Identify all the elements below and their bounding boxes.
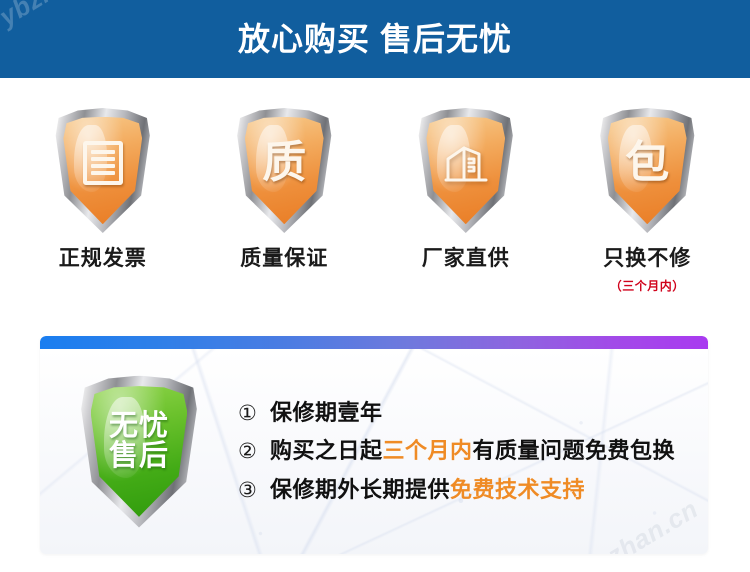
doc-line: [91, 171, 115, 175]
promo-banner: ybzhan.cn 放心购买 售后无忧 正规发票: [0, 0, 750, 572]
doc-line: [91, 157, 115, 161]
quality-character-icon: 质: [236, 108, 332, 233]
warranty-terms-list: ① 保修期壹年 ② 购买之日起三个月内有质量问题免费包换 ③ 保修期外长期提供免…: [238, 399, 708, 504]
header-bar: ybzhan.cn 放心购买 售后无忧: [0, 0, 750, 78]
building-outline-icon: [443, 140, 489, 186]
shield-glyph-invoice: [55, 108, 151, 233]
panel-gradient-bar: [40, 336, 708, 349]
feature-label: 只换不修: [603, 247, 691, 270]
warranty-panel: ybzhan.cn 无忧 售后 ① 保修: [40, 336, 708, 554]
worry-free-service-shield-icon: 无忧 售后: [80, 376, 198, 528]
list-item: ③ 保修期外长期提供免费技术支持: [238, 476, 690, 504]
term-number: ①: [238, 401, 270, 427]
doc-line: [91, 150, 115, 154]
term-segment-highlight: 免费技术支持: [450, 477, 585, 502]
feature-label: 正规发票: [59, 247, 147, 270]
term-number: ③: [238, 478, 270, 504]
shield-glyph-factory: [418, 108, 514, 233]
term-segment: 保修期外长期提供: [270, 477, 450, 502]
term-text: 保修期外长期提供免费技术支持: [270, 476, 585, 504]
term-text: 保修期壹年: [270, 399, 383, 427]
term-number: ②: [238, 439, 270, 465]
term-segment: 购买之日起: [270, 438, 383, 463]
shield-glyph-package: 包: [599, 108, 695, 233]
panel-body: 无忧 售后 ① 保修期壹年 ② 购买之日起三个月内有质量问题免费包换: [40, 349, 708, 554]
term-segment: 有质量问题免费包换: [473, 438, 676, 463]
shield-text-line2: 售后: [109, 442, 169, 472]
term-text: 购买之日起三个月内有质量问题免费包换: [270, 437, 675, 465]
feature-item-factory: 厂家直供: [380, 78, 552, 270]
panel-shield-wrap: 无忧 售后: [40, 376, 238, 528]
list-item: ② 购买之日起三个月内有质量问题免费包换: [238, 437, 690, 465]
factory-building-icon: [418, 108, 514, 233]
feature-label: 质量保证: [240, 247, 328, 270]
feature-shield-row: 正规发票 质 质量保证: [0, 78, 750, 318]
shield-glyph-quality: 质: [236, 108, 332, 233]
invoice-document-icon: [55, 108, 151, 233]
term-segment: 保修期壹年: [270, 400, 383, 425]
list-item: ① 保修期壹年: [238, 399, 690, 427]
package-character-icon: 包: [599, 108, 695, 233]
document-lines-icon: [83, 141, 123, 185]
term-segment-highlight: 三个月内: [383, 438, 473, 463]
feature-sublabel: （三个月内）: [610, 277, 685, 294]
shield-text: 无忧 售后: [80, 376, 198, 528]
feature-item-quality: 质 质量保证: [198, 78, 370, 270]
feature-item-exchange: 包 只换不修 （三个月内）: [561, 78, 733, 294]
shield-text-line1: 无忧: [109, 412, 169, 442]
feature-item-invoice: 正规发票: [17, 78, 189, 270]
page-title: 放心购买 售后无忧: [0, 0, 750, 78]
feature-label: 厂家直供: [422, 247, 510, 270]
doc-line: [91, 164, 115, 168]
